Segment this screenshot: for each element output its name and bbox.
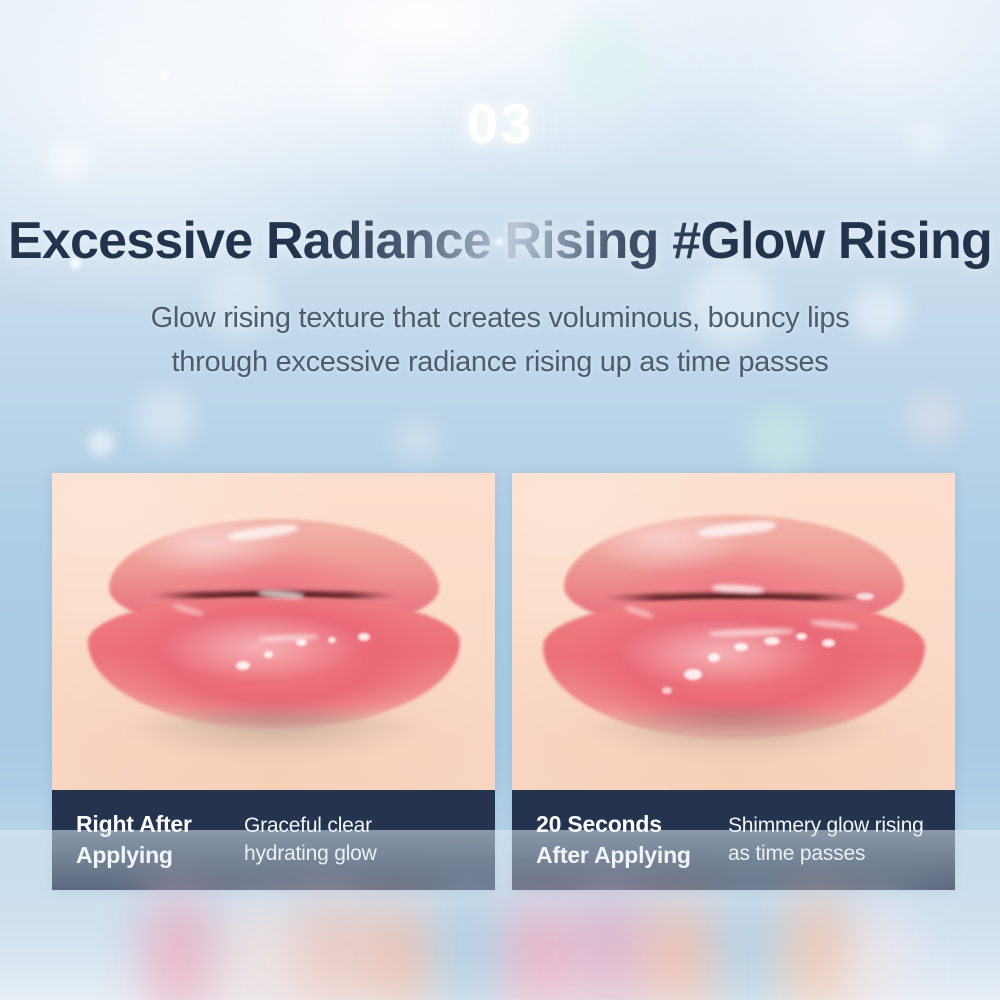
blurred-product-lineup	[0, 850, 1000, 1000]
page-title: Excessive Radiance Rising #Glow Rising	[0, 213, 1000, 270]
subtitle-line-2: through excessive radiance rising up as …	[0, 340, 1000, 384]
lips-photo-20-seconds-after-applying	[512, 473, 955, 790]
section-number: 03	[0, 96, 1000, 152]
photo-vignette	[512, 473, 955, 790]
comparison-gallery: Right After Applying Graceful clear hydr…	[52, 473, 955, 890]
subtitle: Glow rising texture that creates volumin…	[0, 296, 1000, 384]
photo-vignette	[52, 473, 495, 790]
lips-photo-right-after-applying	[52, 473, 495, 790]
comparison-card-20-seconds-after-applying: 20 Seconds After Applying Shimmery glow …	[512, 473, 955, 890]
subtitle-line-1: Glow rising texture that creates volumin…	[0, 296, 1000, 340]
product-detail-page: 03 Excessive Radiance Rising #Glow Risin…	[0, 0, 1000, 1000]
comparison-card-right-after-applying: Right After Applying Graceful clear hydr…	[52, 473, 495, 890]
